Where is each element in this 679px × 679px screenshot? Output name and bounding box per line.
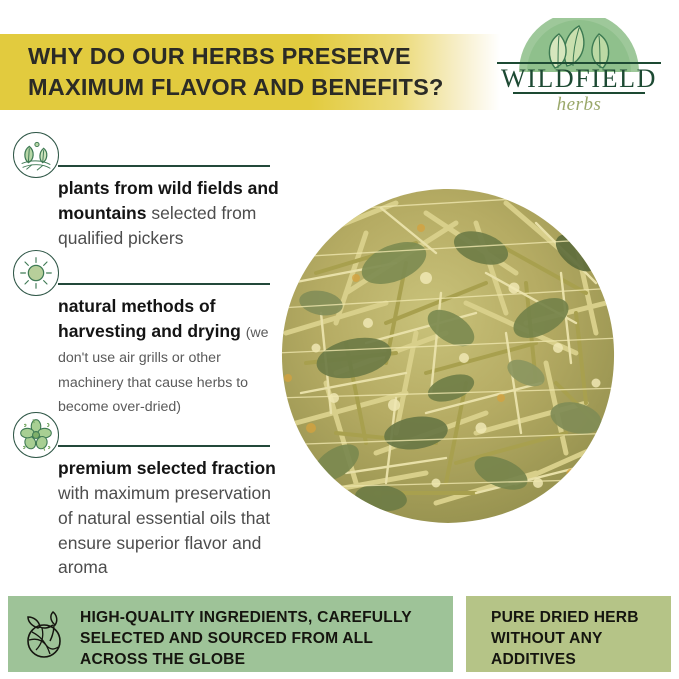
feature-divider (58, 445, 270, 447)
globe-with-leaves-icon (20, 610, 72, 662)
header: WHY DO OUR HERBS PRESERVE MAXIMUM FLAVOR… (0, 0, 679, 130)
banner-high-quality-ingredients: HIGH-QUALITY INGREDIENTS, CAREFULLY SELE… (8, 596, 453, 672)
herb-flower-icon (13, 412, 59, 458)
banner-text: PURE DRIED HERB WITHOUT ANY ADDITIVES (491, 607, 666, 671)
feature-text-rest: with maximum preservation of natural ess… (58, 483, 271, 578)
feature-divider (58, 283, 270, 285)
logo-tagline: herbs (489, 94, 669, 116)
banner-text: HIGH-QUALITY INGREDIENTS, CAREFULLY SELE… (80, 607, 440, 671)
feature-text: plants from wild fields and mountains se… (58, 176, 290, 251)
feature-text-bold: natural methods of harvesting and drying (58, 296, 246, 341)
feature-text: natural methods of harvesting and drying… (58, 294, 290, 418)
infographic-canvas: WHY DO OUR HERBS PRESERVE MAXIMUM FLAVOR… (0, 0, 679, 679)
feature-text-bold: premium selected fraction (58, 458, 276, 478)
field-plants-icon (13, 132, 59, 178)
feature-divider (58, 165, 270, 167)
feature-text: premium selected fraction with maximum p… (58, 456, 290, 580)
brand-logo: WILDFIELD herbs (489, 18, 669, 122)
logo-name: WILDFIELD (489, 64, 669, 94)
page-title: WHY DO OUR HERBS PRESERVE MAXIMUM FLAVOR… (28, 41, 488, 103)
banner-pure-dried-herb: PURE DRIED HERB WITHOUT ANY ADDITIVES (466, 596, 671, 672)
dried-herb-pile-image (276, 183, 620, 528)
sun-icon (13, 250, 59, 296)
